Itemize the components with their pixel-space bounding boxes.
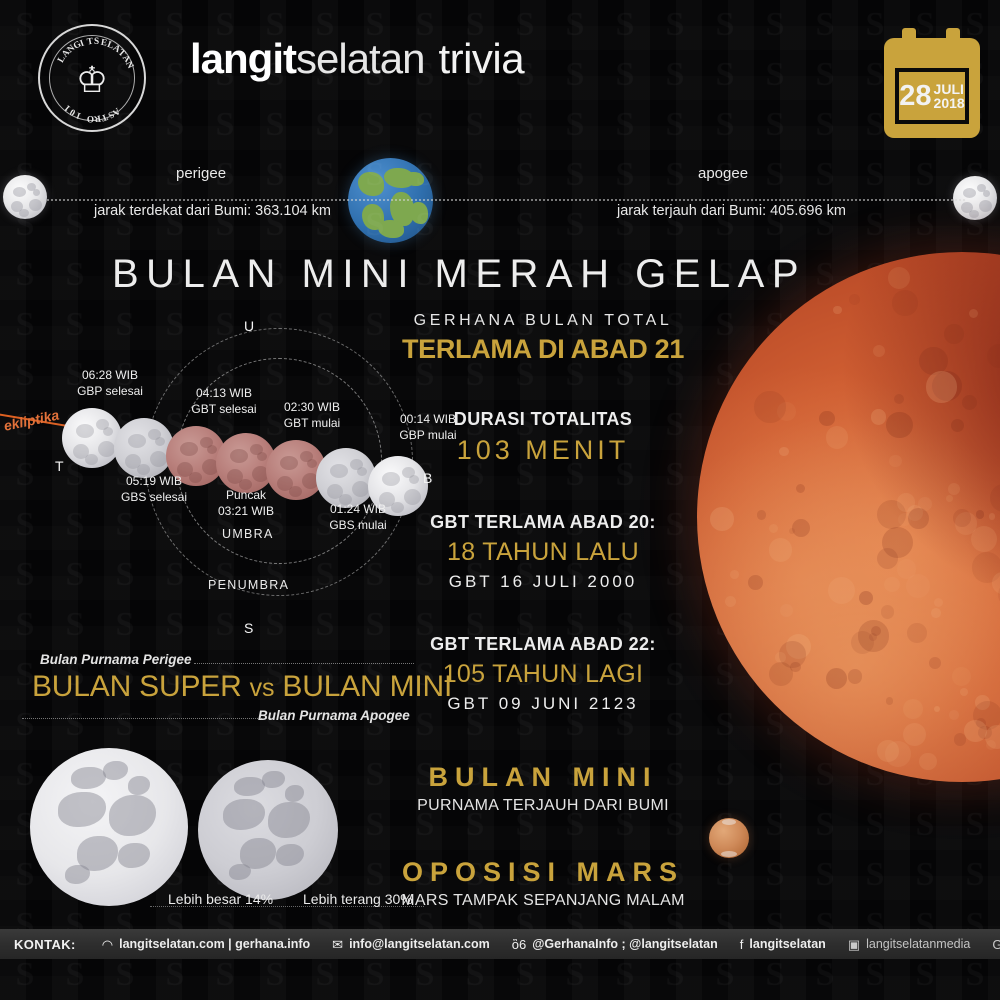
moon-mare	[357, 467, 367, 476]
moon-mare	[85, 454, 98, 465]
moon-crater	[960, 688, 968, 696]
twitter-icon: ὂ6	[512, 938, 526, 951]
horse-rider-icon: ♔	[76, 62, 108, 98]
moon-mare	[98, 441, 115, 457]
moon-crater	[908, 508, 929, 529]
header: LANGITSELATAN ASTRO 101 ♔ langitselatant…	[0, 0, 1000, 150]
moon-mare	[65, 865, 90, 884]
instagram-icon: ▣	[848, 938, 860, 951]
perigee-label: perigee	[176, 165, 226, 182]
moon-mare	[155, 437, 165, 446]
eclipse-moon-gbs-mulai	[316, 448, 376, 508]
moon-crater	[748, 575, 763, 590]
mars-polar-cap	[721, 851, 737, 857]
compare-size-label: Lebih besar 14%	[168, 891, 273, 907]
footer-link-text: info@langitselatan.com	[349, 937, 490, 951]
moon-crater	[944, 324, 964, 344]
eclipse-record-block: GERHANA BULAN TOTAL TERLAMA DI ABAD 21	[400, 312, 686, 365]
moon-crater	[964, 720, 986, 742]
moon-crater	[828, 577, 855, 604]
langitselatan-logo[interactable]: LANGITSELATAN ASTRO 101 ♔	[38, 24, 146, 132]
moon-mare	[230, 449, 248, 463]
phase-time: 06:28 WIB	[62, 368, 158, 384]
peak-label-group: Puncak 03:21 WIB	[198, 488, 294, 520]
eclipse-moon-gbp-selesai	[62, 408, 122, 468]
googleplus-icon: G+	[992, 938, 1000, 951]
footer-link-rss[interactable]: ◠langitselatan.com | gerhana.info	[102, 937, 332, 951]
moon-mare	[307, 459, 317, 468]
eclipse-headline: TERLAMA DI ABAD 21	[400, 334, 686, 365]
calendar-day: 28	[899, 82, 931, 111]
calendar-screen: 28 JULI 2018	[895, 68, 969, 124]
moon-mare	[103, 427, 113, 436]
compare-bright-label: Lebih terang 30%	[303, 891, 413, 907]
phase-label-gbt-mulai: 02:30 WIB GBT mulai	[264, 400, 360, 432]
moon-crater	[849, 294, 860, 305]
moon-crater	[894, 394, 904, 404]
moon-crater	[934, 598, 943, 607]
moon-mare	[109, 795, 156, 836]
footer-link-facebook[interactable]: flangitselatan	[740, 937, 848, 951]
footer-links: ◠langitselatan.com | gerhana.info✉info@l…	[102, 937, 1000, 951]
moon-crater	[833, 306, 842, 315]
eclipse-moon-gbs-selesai	[114, 418, 174, 478]
svm-title-part2: BULAN MINI	[274, 670, 452, 703]
brand-part-1: langit	[190, 35, 296, 82]
moon-mare	[276, 844, 304, 866]
minimoon-title: BULAN MINI	[400, 762, 686, 793]
moon-crater	[888, 267, 910, 289]
calendar-icon: 28 JULI 2018	[884, 28, 980, 138]
peak-time: 03:21 WIB	[198, 504, 294, 520]
moon-crater	[903, 723, 926, 746]
moon-mare	[229, 864, 251, 881]
svm-top-rule	[194, 663, 414, 664]
moon-crater	[889, 455, 902, 468]
footer-link-twitter[interactable]: ὂ6@GerhanaInfo ; @langitselatan	[512, 937, 740, 951]
century20-block: GBT TERLAMA ABAD 20: 18 TAHUN LALU GBT 1…	[400, 512, 686, 592]
moon-crater	[796, 484, 805, 493]
moon-mare	[128, 434, 146, 448]
moon-mare	[150, 451, 167, 467]
phase-event: GBT selesai	[176, 402, 272, 418]
moon-mare	[352, 481, 369, 497]
penumbra-label: PENUMBRA	[208, 578, 289, 592]
calendar-month: JULI	[934, 82, 965, 96]
facebook-icon: f	[740, 938, 744, 951]
footer-kontak-label: KONTAK:	[0, 937, 102, 952]
phase-event: GBP selesai	[62, 384, 158, 400]
calendar-month-year: JULI 2018	[934, 82, 965, 111]
moon-mare	[223, 799, 265, 830]
moon-crater	[903, 699, 923, 719]
moon-crater	[952, 667, 971, 686]
moon-crater	[859, 591, 873, 605]
duration-label: DURASI TOTALITAS	[400, 409, 686, 430]
rss-icon: ◠	[102, 938, 113, 951]
moon-crater	[757, 510, 767, 520]
moon-crater	[886, 412, 913, 439]
moon-mare	[262, 771, 284, 788]
moon-crater	[725, 596, 736, 607]
moon-mare	[268, 802, 310, 838]
moon-mare	[128, 776, 150, 795]
moon-crater	[926, 371, 958, 403]
mars-planet-icon	[709, 818, 749, 858]
moon-mare	[382, 472, 400, 486]
mars-polar-cap	[722, 819, 736, 825]
moon-crater	[969, 309, 979, 319]
moon-crater	[990, 484, 1000, 512]
moon-crater	[819, 411, 835, 427]
minimoon-subtitle: PURNAMA TERJAUH DARI BUMI	[400, 797, 686, 815]
century20-value: 18 TAHUN LALU	[400, 538, 686, 567]
phase-label-gbp-selesai: 06:28 WIB GBP selesai	[62, 368, 158, 400]
calendar-year: 2018	[934, 96, 965, 110]
phase-event: GBT mulai	[264, 416, 360, 432]
minimoon-block: BULAN MINI PURNAMA TERJAUH DARI BUMI	[400, 762, 686, 815]
marker-north: U	[244, 318, 254, 334]
marker-west: T	[55, 458, 64, 474]
brand-part-3: trivia	[438, 35, 524, 82]
phase-event: GBS selesai	[106, 490, 202, 506]
mars-block: OPOSISI MARS MARS TAMPAK SEPANJANG MALAM	[400, 857, 686, 910]
umbra-label: UMBRA	[222, 527, 274, 541]
moon-crater	[987, 344, 1000, 368]
moon-crater	[949, 710, 959, 720]
footer-link-text: langitselatanmedia	[866, 937, 970, 951]
footer-link-text: @GerhanaInfo ; @langitselatan	[532, 937, 718, 951]
phase-time: 04:13 WIB	[176, 386, 272, 402]
moon-mare	[103, 761, 128, 780]
svm-title-part1: BULAN SUPER	[32, 670, 250, 703]
moon-mare	[285, 785, 305, 802]
century20-label: GBT TERLAMA ABAD 20:	[400, 512, 686, 533]
footer-contact-bar: KONTAK: ◠langitselatan.com | gerhana.inf…	[0, 929, 1000, 959]
moon-crater	[962, 395, 977, 410]
moon-crater	[710, 507, 734, 531]
moon-mare	[118, 843, 150, 868]
calendar-date-card: 28 JULI 2018	[899, 72, 965, 120]
eclipse-kicker: GERHANA BULAN TOTAL	[400, 312, 686, 330]
moon-crater	[779, 447, 788, 456]
page-title: langitselatantrivia	[190, 38, 524, 80]
moon-crater	[754, 391, 785, 422]
svm-bottom-rule	[22, 718, 262, 719]
century20-date: GBT 16 JULI 2000	[400, 572, 686, 592]
moon-crater	[907, 623, 927, 643]
svm-top-label: Bulan Purnama Perigee	[40, 652, 192, 667]
moon-crater	[892, 290, 917, 315]
moon-mare	[234, 777, 265, 797]
svm-title-vs: vs	[250, 674, 275, 702]
phase-label-gbs-selesai: 05:19 WIB GBS selesai	[106, 474, 202, 506]
footer-link-text: langitselatan.com | gerhana.info	[119, 937, 310, 951]
moon-mare	[330, 464, 348, 478]
apogee-label: apogee	[698, 165, 748, 182]
super-moon-illustration	[30, 748, 188, 906]
moon-crater	[934, 706, 940, 712]
mars-title: OPOSISI MARS	[400, 857, 686, 888]
moon-crater	[929, 657, 941, 669]
footer-link-envelope[interactable]: ✉info@langitselatan.com	[332, 937, 512, 951]
moon-crater	[931, 608, 941, 618]
mini-moon-illustration	[198, 760, 338, 900]
calendar-body: 28 JULI 2018	[884, 38, 980, 138]
footer-link-googleplus[interactable]: G+LangitselatanMedia	[992, 937, 1000, 951]
phase-label-gbs-mulai: 01:24 WIB GBS mulai	[310, 502, 406, 534]
apogee-distance: jarak terjauh dari Bumi: 405.696 km	[617, 203, 846, 219]
peak-label: Puncak	[198, 488, 294, 504]
moon-mare	[76, 424, 94, 438]
phase-time: 02:30 WIB	[264, 400, 360, 416]
moon-crater	[906, 574, 930, 598]
mars-subtitle: MARS TAMPAK SEPANJANG MALAM	[400, 892, 686, 910]
moon-crater	[877, 548, 898, 569]
main-headline: BULAN MINI MERAH GELAP	[112, 252, 806, 297]
moon-crater	[951, 419, 964, 432]
perigee-distance: jarak terdekat dari Bumi: 363.104 km	[94, 203, 331, 219]
moon-crater	[946, 495, 952, 501]
moon-crater	[919, 753, 936, 770]
century22-label: GBT TERLAMA ABAD 22:	[400, 634, 686, 655]
moon-mare	[280, 456, 298, 470]
moon-crater	[826, 668, 847, 689]
footer-link-instagram[interactable]: ▣langitselatanmedia	[848, 937, 993, 951]
moon-crater	[790, 662, 800, 672]
moon-crater	[769, 538, 793, 562]
duration-value: 103 MENIT	[400, 435, 686, 466]
marker-south: S	[244, 620, 253, 636]
moon-mare	[180, 442, 198, 456]
moon-crater	[873, 345, 885, 357]
moon-crater	[884, 577, 899, 592]
moon-crater	[871, 409, 886, 424]
moon-crater	[976, 510, 984, 518]
envelope-icon: ✉	[332, 938, 343, 951]
moon-mare	[207, 445, 217, 454]
moon-crater	[792, 519, 810, 537]
brand-part-2: selatan	[296, 35, 424, 82]
orbit-dotted-line	[40, 199, 965, 201]
phase-time: 01:24 WIB	[310, 502, 406, 518]
phase-time: 05:19 WIB	[106, 474, 202, 490]
duration-block: DURASI TOTALITAS 103 MENIT	[400, 409, 686, 466]
moon-crater	[826, 426, 848, 448]
moon-crater	[948, 483, 960, 495]
moon-crater	[769, 524, 778, 533]
moon-mare	[58, 792, 105, 827]
phase-label-gbt-selesai: 04:13 WIB GBT selesai	[176, 386, 272, 418]
svm-title: BULAN SUPER vs BULAN MINI	[32, 670, 452, 704]
svm-bottom-label: Bulan Purnama Apogee	[258, 708, 410, 723]
moon-crater	[881, 605, 895, 619]
moon-crater	[971, 526, 998, 553]
moon-crater	[848, 669, 863, 684]
moon-mare	[257, 452, 267, 461]
moon-crater	[730, 570, 739, 579]
orbit-distance-band: perigee jarak terdekat dari Bumi: 363.10…	[0, 155, 1000, 250]
footer-link-text: langitselatan	[749, 937, 825, 951]
moon-mare	[71, 767, 106, 789]
moon-crater	[780, 604, 793, 617]
phase-event: GBS mulai	[310, 518, 406, 534]
moon-crater	[989, 513, 996, 520]
moon-crater	[953, 509, 971, 527]
moon-crater	[886, 697, 894, 705]
info-column: GERHANA BULAN TOTAL TERLAMA DI ABAD 21 D…	[400, 312, 686, 910]
moon-crater	[885, 741, 911, 767]
moon-crater	[775, 652, 786, 663]
